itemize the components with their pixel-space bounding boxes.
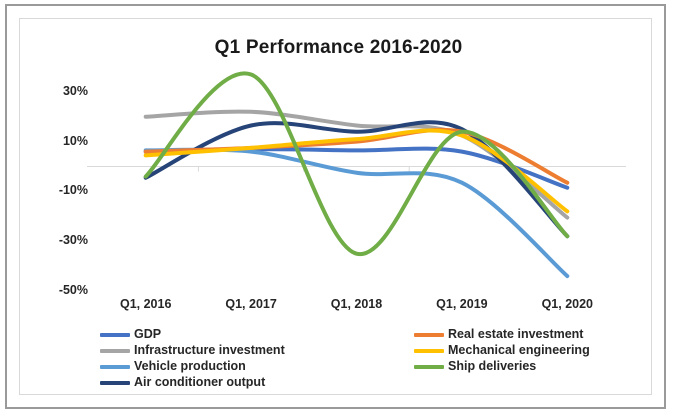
y-axis-tick-label: 10% [36,134,88,148]
chart-inner-frame: Q1 Performance 2016-2020 30%10%-10%-30%-… [19,18,652,395]
legend-item[interactable]: Air conditioner output [100,375,265,390]
chart-title: Q1 Performance 2016-2020 [20,37,657,59]
plot-svg [93,67,620,291]
legend-item[interactable]: Real estate investment [414,327,583,342]
x-axis-tick-label: Q1, 2016 [120,297,171,311]
legend-item-label: GDP [134,327,161,342]
chart-legend[interactable]: GDPInfrastructure investmentVehicle prod… [100,327,645,393]
y-axis-tick-label: -10% [36,183,88,197]
chart-outer-frame: Q1 Performance 2016-2020 30%10%-10%-30%-… [5,4,666,409]
legend-color-swatch [100,381,130,385]
x-axis-tick-label: Q1, 2017 [225,297,276,311]
legend-item-label: Ship deliveries [448,359,536,374]
legend-item-label: Air conditioner output [134,375,265,390]
legend-color-swatch [100,365,130,369]
x-axis: Q1, 2016Q1, 2017Q1, 2018Q1, 2019Q1, 2020 [93,297,620,319]
legend-color-swatch [414,365,444,369]
legend-item[interactable]: Mechanical engineering [414,343,590,358]
legend-item-label: Mechanical engineering [448,343,590,358]
legend-color-swatch [100,349,130,353]
legend-item-label: Infrastructure investment [134,343,285,358]
plot-area[interactable] [93,67,620,291]
y-axis: 30%10%-10%-30%-50% [30,67,88,291]
legend-color-swatch [414,349,444,353]
legend-color-swatch [100,333,130,337]
legend-item[interactable]: Infrastructure investment [100,343,285,358]
legend-color-swatch [414,333,444,337]
y-axis-tick-label: -30% [36,233,88,247]
legend-item[interactable]: GDP [100,327,161,342]
series-line[interactable] [146,150,568,276]
y-axis-tick-label: 30% [36,84,88,98]
legend-item-label: Real estate investment [448,327,583,342]
x-axis-tick-label: Q1, 2019 [436,297,487,311]
legend-item[interactable]: Vehicle production [100,359,246,374]
legend-item[interactable]: Ship deliveries [414,359,536,374]
x-axis-tick-label: Q1, 2020 [542,297,593,311]
y-axis-tick-label: -50% [36,283,88,297]
line-chart[interactable]: Q1 Performance 2016-2020 30%10%-10%-30%-… [20,19,657,400]
x-axis-tick-label: Q1, 2018 [331,297,382,311]
legend-item-label: Vehicle production [134,359,246,374]
